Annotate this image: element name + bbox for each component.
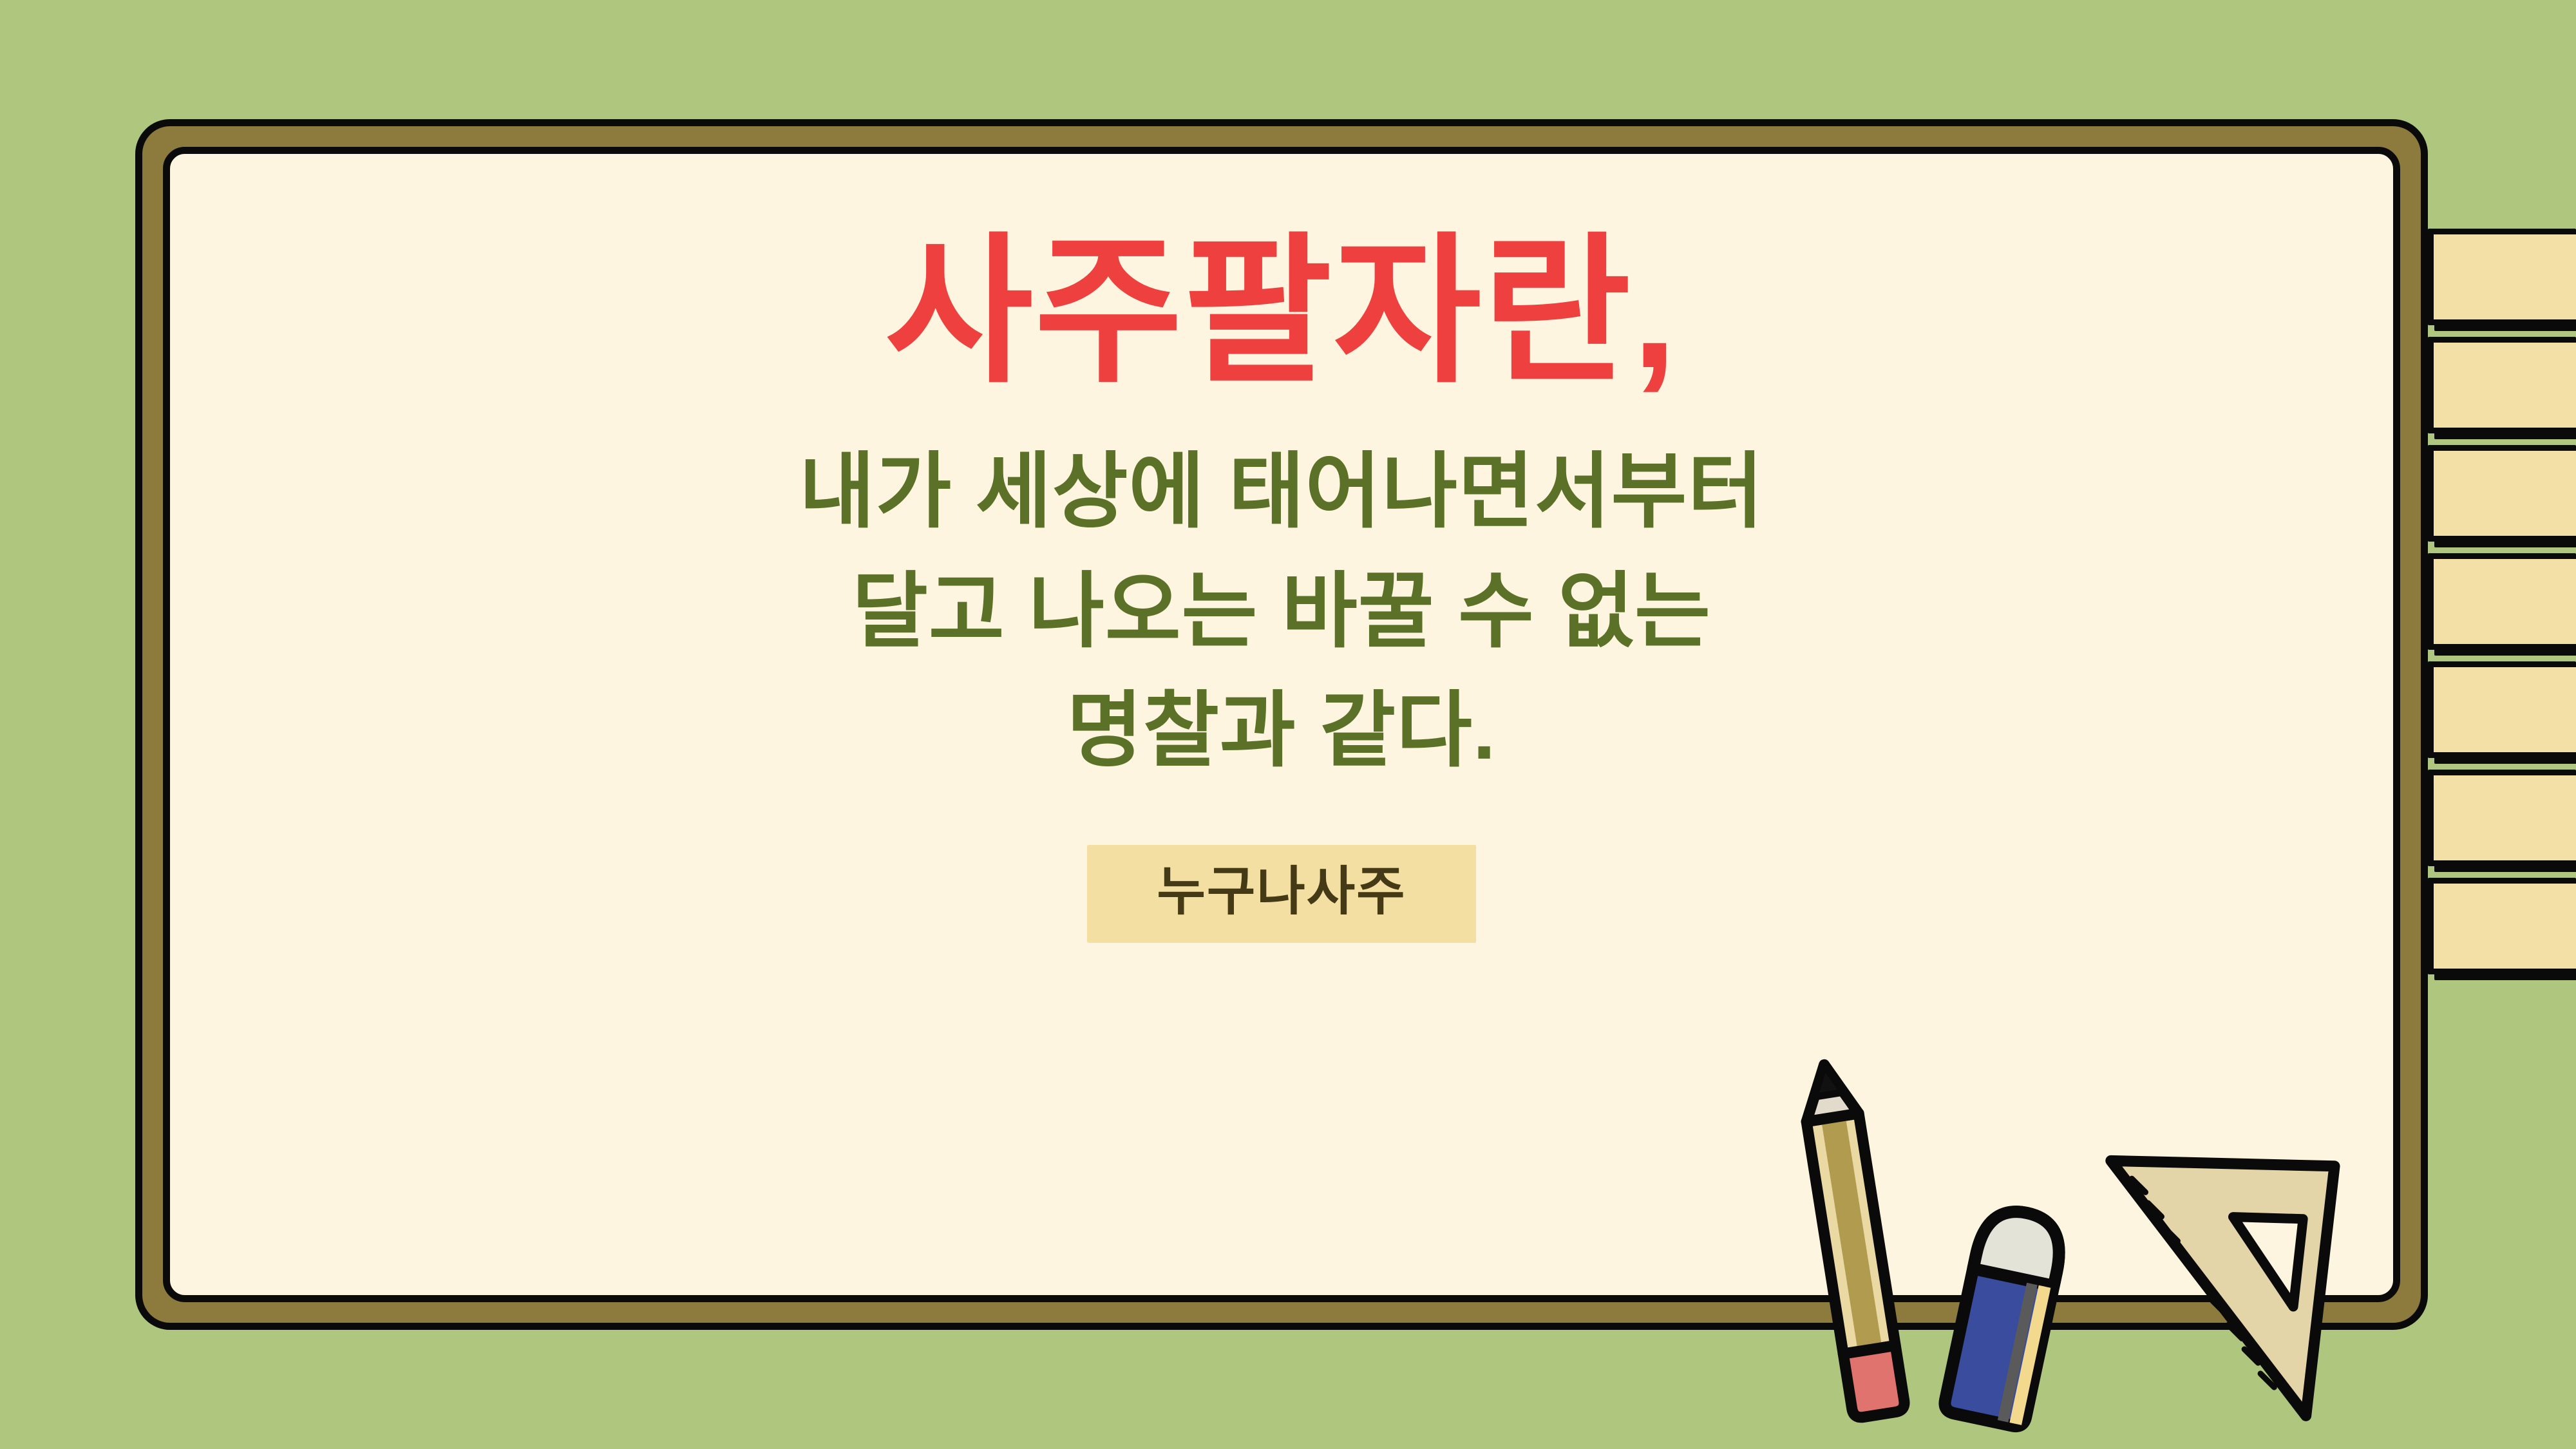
note-card-surface: 사주팔자란, 내가 세상에 태어나면서부터 달고 나오는 바꿀 수 없는 명찰과…: [163, 147, 2400, 1302]
description-line: 명찰과 같다.: [799, 671, 1764, 791]
index-tab[interactable]: [2428, 337, 2576, 433]
poster-canvas: 사주팔자란, 내가 세상에 태어나면서부터 달고 나오는 바꿀 수 없는 명찰과…: [0, 0, 2576, 1449]
index-tab[interactable]: [2428, 445, 2576, 542]
note-card-frame: 사주팔자란, 내가 세상에 태어나면서부터 달고 나오는 바꿀 수 없는 명찰과…: [135, 119, 2428, 1330]
description-line: 달고 나오는 바꿀 수 없는: [799, 552, 1764, 672]
card-content: 사주팔자란, 내가 세상에 태어나면서부터 달고 나오는 바꿀 수 없는 명찰과…: [170, 154, 2393, 1295]
index-tab[interactable]: [2428, 229, 2576, 325]
description-text: 내가 세상에 태어나면서부터 달고 나오는 바꿀 수 없는 명찰과 같다.: [799, 432, 1764, 791]
index-tab[interactable]: [2428, 553, 2576, 650]
index-tab-strip: [2428, 229, 2576, 982]
page-title: 사주팔자란,: [885, 225, 1678, 399]
brand-badge[interactable]: 누구나사주: [1087, 845, 1475, 943]
index-tab[interactable]: [2428, 878, 2576, 974]
index-tab[interactable]: [2428, 661, 2576, 758]
description-line: 내가 세상에 태어나면서부터: [799, 432, 1764, 552]
index-tab[interactable]: [2428, 770, 2576, 866]
